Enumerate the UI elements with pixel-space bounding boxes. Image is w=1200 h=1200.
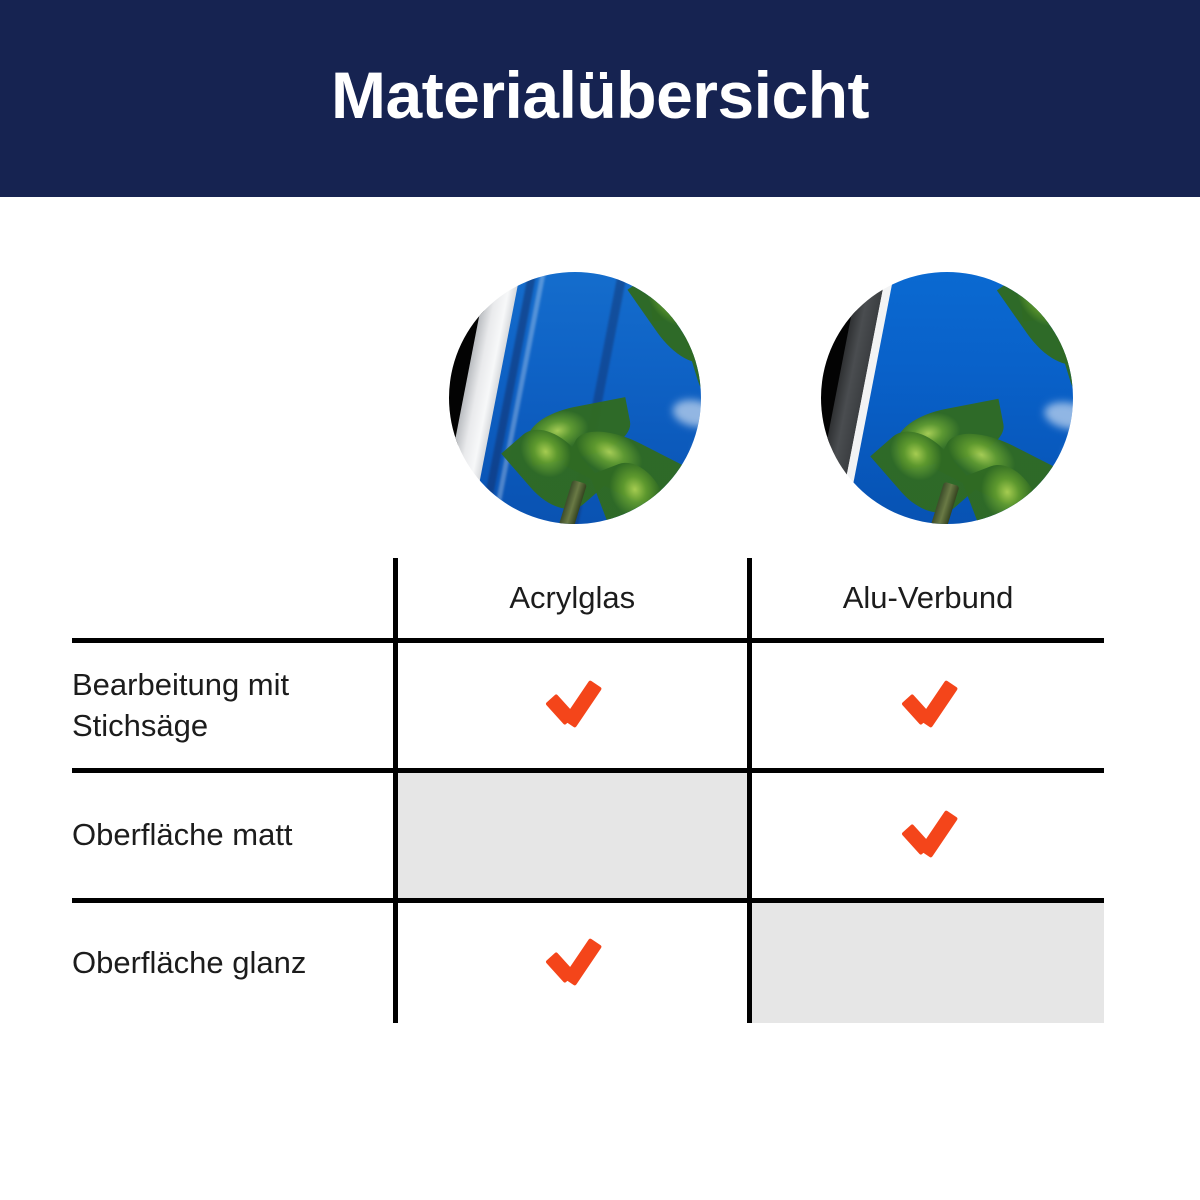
row-label-line: Bearbeitung mit <box>72 665 393 705</box>
row-label-bearbeitung-stichsaege: Bearbeitung mit Stichsäge <box>72 641 395 771</box>
table-row: Oberfläche matt <box>72 771 1104 901</box>
thumbnail-acrylglas[interactable] <box>449 272 701 524</box>
row-label-line: Oberfläche matt <box>72 815 393 855</box>
alu-verbund-panel-artwork <box>821 272 1073 524</box>
cell-alu-verbund-stichsaege <box>750 641 1105 771</box>
check-icon <box>545 939 599 983</box>
check-icon <box>901 681 955 725</box>
row-label-oberflaeche-matt: Oberfläche matt <box>72 771 395 901</box>
page-title: Materialübersicht <box>331 62 869 128</box>
cell-alu-verbund-matt <box>750 771 1105 901</box>
thumbnail-alu-verbund[interactable] <box>821 272 1073 524</box>
row-label-line: Stichsäge <box>72 706 393 746</box>
column-header-alu-verbund: Alu-Verbund <box>750 558 1105 641</box>
material-thumbnails <box>0 272 1200 524</box>
column-header-acrylglas: Acrylglas <box>395 558 750 641</box>
cloud-shape <box>1063 443 1073 472</box>
header-cell-blank <box>72 558 395 641</box>
acrylglas-panel-artwork <box>449 272 701 524</box>
comparison-table: Acrylglas Alu-Verbund Bearbeitung mit St… <box>72 558 1104 1023</box>
table-row: Bearbeitung mit Stichsäge <box>72 641 1104 771</box>
check-icon <box>545 681 599 725</box>
cloud-shape <box>671 396 701 430</box>
table-row: Oberfläche glanz <box>72 901 1104 1024</box>
header-banner: Materialübersicht <box>0 0 1200 197</box>
palm-frond <box>670 500 701 524</box>
cell-acrylglas-glanz <box>395 901 750 1024</box>
cloud-shape <box>694 439 701 466</box>
table-header-row: Acrylglas Alu-Verbund <box>72 558 1104 641</box>
row-label-oberflaeche-glanz: Oberfläche glanz <box>72 901 395 1024</box>
cloud-shape <box>1042 398 1073 433</box>
material-comparison-table: Acrylglas Alu-Verbund Bearbeitung mit St… <box>72 558 1104 1013</box>
check-icon <box>901 811 955 855</box>
cell-acrylglas-stichsaege <box>395 641 750 771</box>
palm-frond <box>1042 502 1073 524</box>
cell-acrylglas-matt <box>395 771 750 901</box>
row-label-line: Oberfläche glanz <box>72 943 393 983</box>
cell-alu-verbund-glanz <box>750 901 1105 1024</box>
